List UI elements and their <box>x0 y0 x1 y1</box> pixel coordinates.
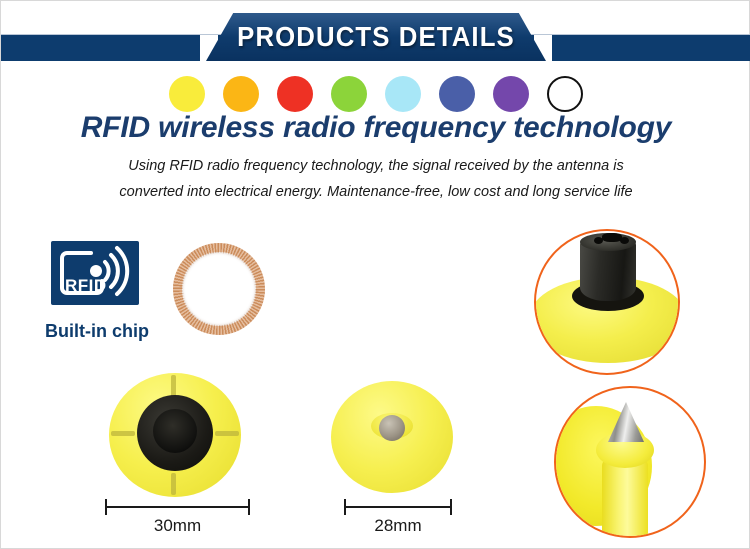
page-title: PRODUCTS DETAILS <box>220 13 533 61</box>
dimension-cap-right <box>450 499 452 515</box>
dimension-bar <box>105 506 250 508</box>
header-banner: PRODUCTS DETAILS <box>1 1 750 67</box>
dimension-cap-right <box>248 499 250 515</box>
dimension-line-30mm: 30mm <box>105 498 250 520</box>
yellow-pin-shaft <box>602 458 648 538</box>
swatch-yellow[interactable] <box>169 76 205 112</box>
rfid-icon: RFID <box>51 241 139 305</box>
pin-tip-closeup-photo <box>554 386 706 538</box>
dimension-line-28mm: 28mm <box>344 498 452 520</box>
dimension-label-28mm: 28mm <box>344 516 452 536</box>
section-description: Using RFID radio frequency technology, t… <box>111 153 641 205</box>
ear-tag-female-30mm <box>109 373 241 497</box>
metal-pin-head <box>379 415 405 441</box>
tag-groove-left <box>111 431 135 436</box>
svg-text:RFID: RFID <box>65 276 107 295</box>
swatch-purple[interactable] <box>493 76 529 112</box>
tag-center-hole <box>153 409 197 453</box>
swatch-red[interactable] <box>277 76 313 112</box>
dimension-cap-left <box>105 499 107 515</box>
dimension-label-30mm: 30mm <box>105 516 250 536</box>
swatch-indigo[interactable] <box>439 76 475 112</box>
copper-antenna-coil <box>173 243 265 335</box>
swatch-white[interactable] <box>547 76 583 112</box>
ear-tag-male-28mm <box>331 381 453 493</box>
dimension-cap-left <box>344 499 346 515</box>
swatch-light-blue[interactable] <box>385 76 421 112</box>
swatch-orange[interactable] <box>223 76 259 112</box>
tag-groove-right <box>215 431 239 436</box>
connector-center-boss <box>602 233 622 242</box>
product-detail-page: PRODUCTS DETAILS RFID wireless radio fre… <box>0 0 750 549</box>
swatch-green[interactable] <box>331 76 367 112</box>
built-in-chip-label: Built-in chip <box>37 321 157 342</box>
rfid-chip-badge: RFID <box>51 241 139 305</box>
tag-groove-top <box>171 375 176 397</box>
section-heading: RFID wireless radio frequency technology <box>1 111 750 145</box>
tag-connector-closeup-photo <box>534 229 680 375</box>
tag-groove-bottom <box>171 473 176 495</box>
dimension-bar <box>344 506 452 508</box>
